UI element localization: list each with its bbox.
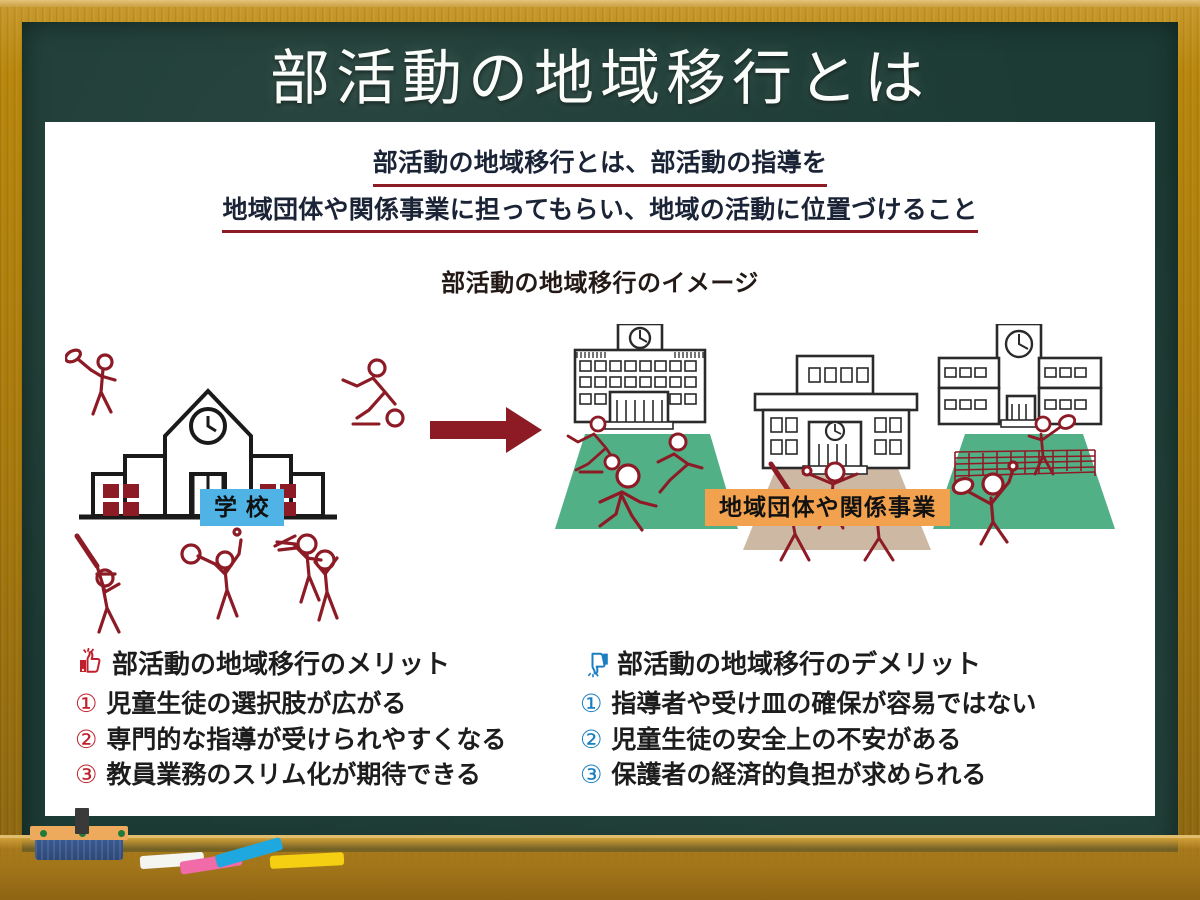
chalkboard-infographic: 部活動の地域移行とは 部活動の地域移行とは、部活動の指導を 地域団体や関係事業に…	[0, 0, 1200, 900]
demerit-text-2: 児童生徒の安全上の不安がある	[611, 724, 961, 757]
demerits-column: 部活動の地域移行のデメリット ① 指導者や受け皿の確保が容易ではない ② 児童生…	[580, 644, 1100, 795]
demerits-heading: 部活動の地域移行のデメリット	[580, 644, 1100, 681]
transfer-diagram: 学 校 地域団体や関係事業	[45, 306, 1155, 636]
merits-heading: 部活動の地域移行のメリット	[75, 644, 595, 681]
merits-heading-text: 部活動の地域移行のメリット	[112, 644, 450, 681]
definition-line-2: 地域団体や関係事業に担ってもらい、地域の活動に位置づけること	[222, 193, 977, 234]
community-building-1-scene	[550, 324, 740, 574]
thumbs-down-icon	[580, 648, 610, 678]
demerit-number-1: ①	[580, 688, 602, 721]
merit-item-1: ① 児童生徒の選択肢が広がる	[75, 688, 595, 721]
content-panel: 部活動の地域移行とは、部活動の指導を 地域団体や関係事業に担ってもらい、地域の活…	[45, 122, 1155, 816]
community-building-3-scene	[925, 324, 1120, 574]
demerit-number-3: ③	[580, 759, 602, 792]
blackboard-eraser	[35, 826, 123, 860]
region-tag: 地域団体や関係事業	[705, 489, 950, 526]
merit-item-3: ③ 教員業務のスリム化が期待できる	[75, 759, 595, 792]
eraser-dot-left	[40, 830, 47, 837]
demerit-number-2: ②	[580, 724, 602, 757]
demerit-text-3: 保護者の経済的負担が求められる	[611, 759, 986, 792]
merit-text-2: 専門的な指導が受けられやすくなる	[106, 724, 506, 757]
frame-top-highlight	[0, 0, 1200, 7]
diagram-title: 部活動の地域移行のイメージ	[45, 263, 1155, 298]
eraser-dot-right	[118, 830, 125, 837]
demerit-text-1: 指導者や受け皿の確保が容易ではない	[611, 688, 1036, 721]
pros-cons-lists: 部活動の地域移行のメリット ① 児童生徒の選択肢が広がる ② 専門的な指導が受け…	[45, 644, 1155, 824]
page-title: 部活動の地域移行とは	[0, 30, 1200, 117]
transition-arrow	[430, 401, 550, 461]
definition-block: 部活動の地域移行とは、部活動の指導を 地域団体や関係事業に担ってもらい、地域の活…	[45, 146, 1155, 233]
definition-line-1: 部活動の地域移行とは、部活動の指導を	[373, 146, 828, 187]
merit-number-3: ③	[75, 759, 97, 792]
merit-number-2: ②	[75, 724, 97, 757]
merit-text-3: 教員業務のスリム化が期待できる	[106, 759, 481, 792]
demerit-item-1: ① 指導者や受け皿の確保が容易ではない	[580, 688, 1100, 721]
demerits-heading-text: 部活動の地域移行のデメリット	[617, 644, 981, 681]
merit-item-2: ② 専門的な指導が受けられやすくなる	[75, 724, 595, 757]
eraser-felt	[35, 838, 123, 860]
merits-column: 部活動の地域移行のメリット ① 児童生徒の選択肢が広がる ② 専門的な指導が受け…	[75, 644, 595, 795]
school-scene	[65, 336, 435, 636]
merit-number-1: ①	[75, 688, 97, 721]
community-building-2-scene	[735, 354, 935, 604]
demerit-item-2: ② 児童生徒の安全上の不安がある	[580, 724, 1100, 757]
thumbs-up-icon	[75, 648, 105, 678]
eraser-handle	[75, 808, 89, 834]
school-tag: 学 校	[200, 489, 284, 526]
demerit-item-3: ③ 保護者の経済的負担が求められる	[580, 759, 1100, 792]
merit-text-1: 児童生徒の選択肢が広がる	[106, 688, 406, 721]
